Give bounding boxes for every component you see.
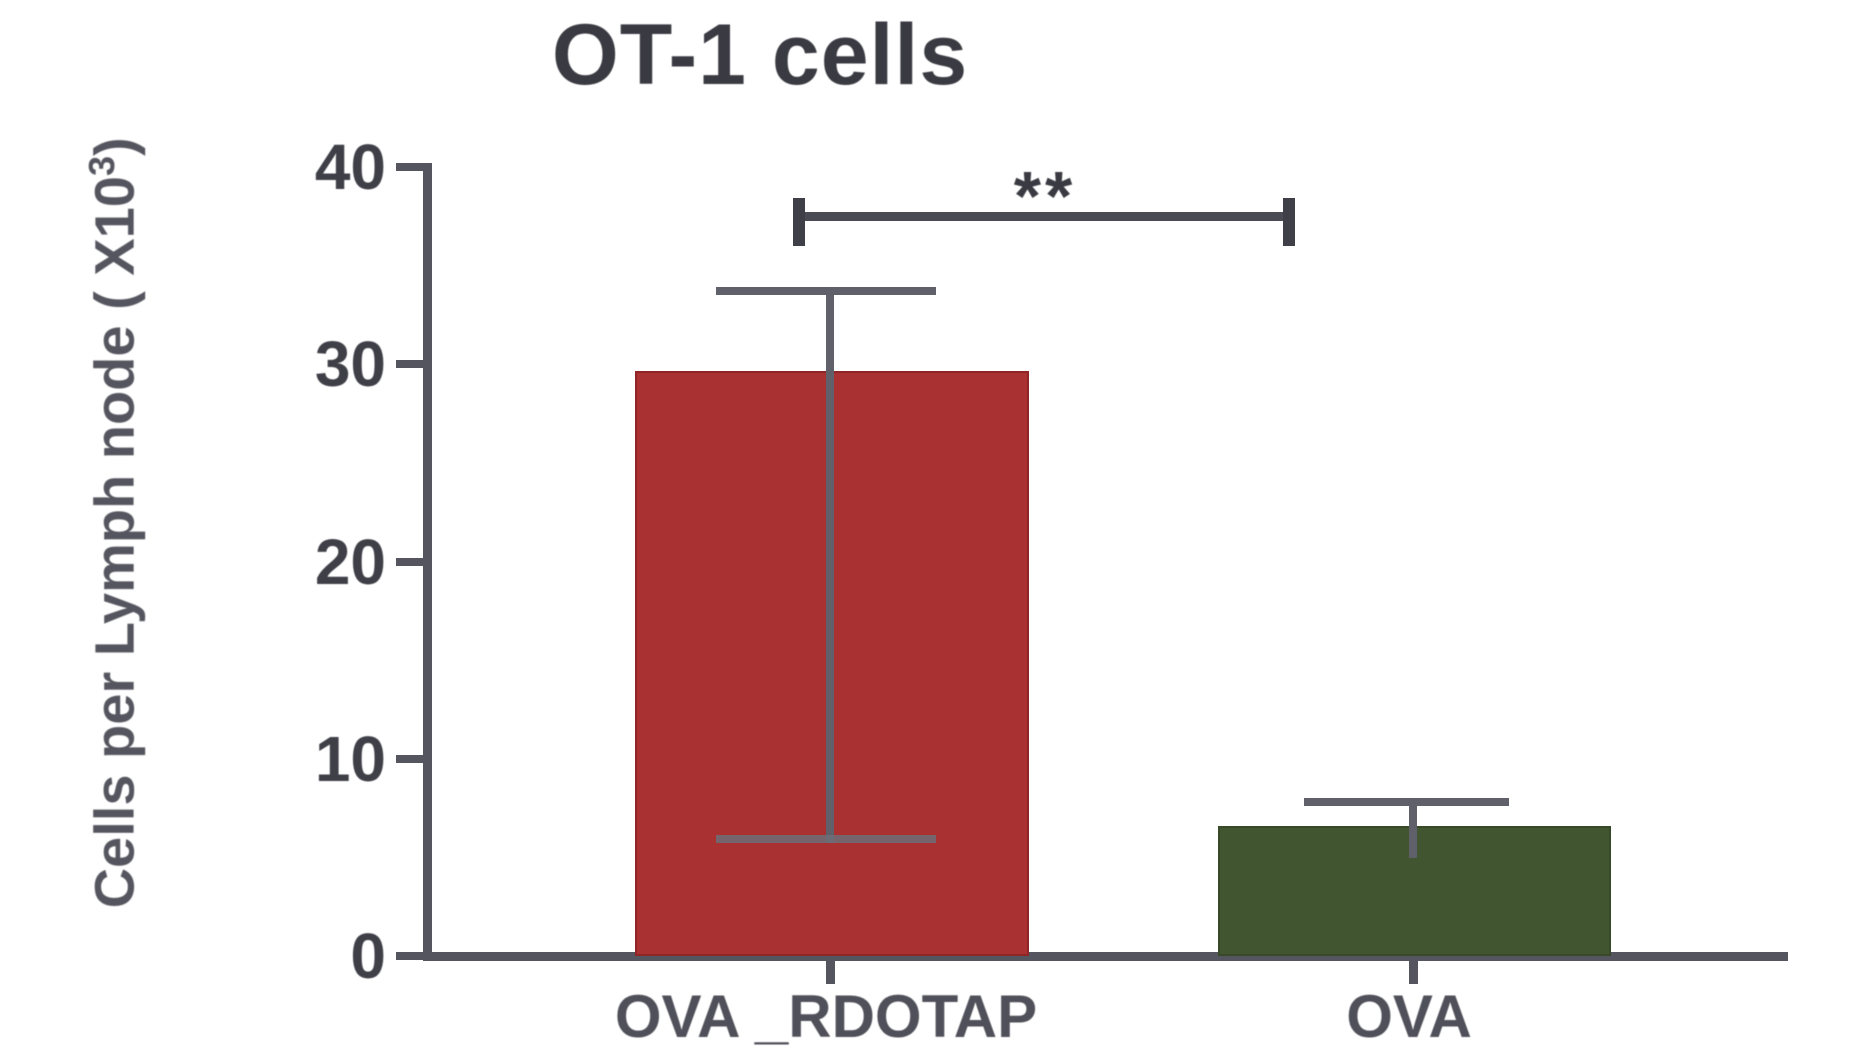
errorbar-stem-ova-rdotap — [826, 287, 834, 843]
y-tick-30 — [396, 360, 426, 368]
y-tick-10 — [396, 755, 426, 763]
errorbar-cap-upper-ova-rdotap — [716, 287, 936, 295]
y-tick-20 — [396, 558, 426, 566]
x-tick-ova-rdotap — [826, 956, 835, 984]
significance-bracket-tick-left — [793, 198, 805, 246]
significance-stars: ** — [895, 175, 1195, 217]
y-tick-label-30: 30 — [86, 327, 386, 401]
y-tick-label-0: 0 — [86, 919, 386, 993]
y-tick-label-40: 40 — [86, 130, 386, 204]
errorbar-stem-ova — [1409, 798, 1417, 858]
y-tick-40 — [396, 163, 426, 171]
significance-bracket-tick-right — [1283, 198, 1295, 246]
x-tick-ova — [1409, 956, 1418, 984]
errorbar-cap-upper-ova — [1304, 798, 1509, 806]
y-tick-0 — [396, 952, 426, 960]
bar-chart-figure: OT-1 cells Cells per Lymph node ( X103) … — [0, 0, 1856, 1045]
plot-area: 40 30 20 10 0 OVA _RDOTAP OVA ** — [0, 0, 1856, 1045]
y-tick-label-10: 10 — [86, 722, 386, 796]
x-tick-label-ova: OVA — [1159, 982, 1659, 1051]
x-tick-label-ova-rdotap: OVA _RDOTAP — [476, 982, 1176, 1051]
errorbar-cap-lower-ova-rdotap — [716, 835, 936, 843]
y-tick-label-20: 20 — [86, 525, 386, 599]
